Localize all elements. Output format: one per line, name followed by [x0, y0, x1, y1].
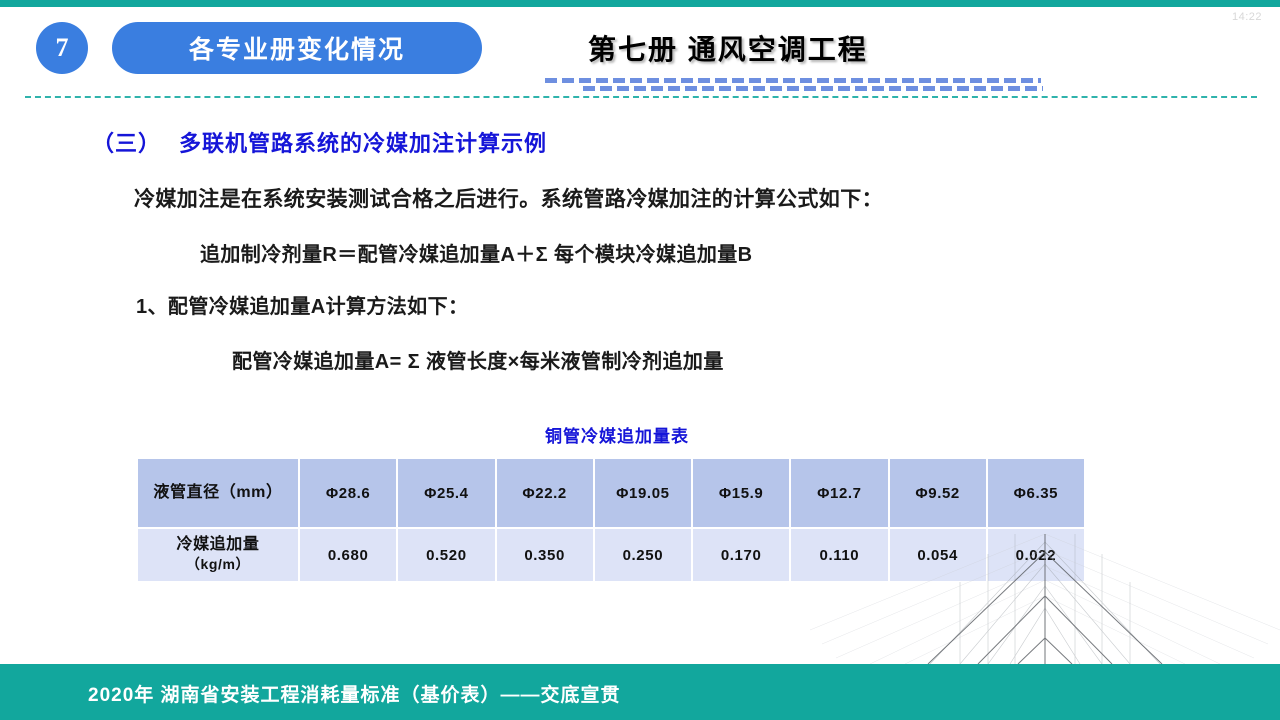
- top-accent-band: [0, 0, 1280, 7]
- table-cell-diameter: Φ6.35: [988, 459, 1084, 527]
- table-caption: 铜管冷媒追加量表: [545, 422, 689, 447]
- list-item-1: 1、配管冷媒追加量A计算方法如下：: [136, 290, 468, 319]
- title-dash-decoration-top: [545, 78, 1041, 83]
- section-number-badge: 7: [36, 22, 88, 74]
- table-cell-charge: 0.022: [988, 529, 1084, 581]
- slide-root: 14:22 7 各专业册变化情况 第七册 通风空调工程 （三）多联机管路系统的冷…: [0, 0, 1280, 720]
- table-cell-charge: 0.250: [595, 529, 691, 581]
- table-cell-charge: 0.170: [693, 529, 789, 581]
- row-header-charge-unit: （kg/m）: [186, 556, 250, 572]
- row-header-charge: 冷媒追加量 （kg/m）: [138, 529, 298, 581]
- table-row: 冷媒追加量 （kg/m） 0.680 0.520 0.350 0.250 0.1…: [138, 529, 1084, 581]
- section-label: （三）: [92, 131, 161, 156]
- section-title-pill: 各专业册变化情况: [112, 22, 482, 74]
- table-cell-charge: 0.350: [497, 529, 593, 581]
- paragraph-intro: 冷媒加注是在系统安装测试合格之后进行。系统管路冷媒加注的计算公式如下：: [134, 183, 883, 213]
- row-header-diameter: 液管直径（mm）: [138, 459, 298, 527]
- copper-pipe-charge-table: 液管直径（mm） Φ28.6 Φ25.4 Φ22.2 Φ19.05 Φ15.9 …: [136, 457, 1086, 583]
- formula-total-charge: 追加制冷剂量R＝配管冷媒追加量A＋Σ 每个模块冷媒追加量B: [200, 238, 753, 267]
- table-cell-diameter: Φ19.05: [595, 459, 691, 527]
- table-cell-charge: 0.680: [300, 529, 396, 581]
- page-title: （三）多联机管路系统的冷媒加注计算示例: [92, 126, 547, 158]
- clock-timestamp: 14:22: [1232, 11, 1262, 23]
- row-header-charge-text: 冷媒追加量: [176, 536, 259, 553]
- table-cell-diameter: Φ28.6: [300, 459, 396, 527]
- book-title: 第七册 通风空调工程: [588, 28, 868, 68]
- title-dash-decoration-bottom: [583, 86, 1043, 91]
- table-cell-diameter: Φ25.4: [398, 459, 494, 527]
- table-cell-charge: 0.054: [890, 529, 986, 581]
- table-cell-diameter: Φ9.52: [890, 459, 986, 527]
- table-cell-diameter: Φ12.7: [791, 459, 887, 527]
- table-cell-charge: 0.520: [398, 529, 494, 581]
- header-divider: [25, 96, 1257, 98]
- table-cell-charge: 0.110: [791, 529, 887, 581]
- table-cell-diameter: Φ15.9: [693, 459, 789, 527]
- formula-pipe-charge: 配管冷媒追加量A= Σ 液管长度×每米液管制冷剂追加量: [232, 345, 724, 374]
- table-row: 液管直径（mm） Φ28.6 Φ25.4 Φ22.2 Φ19.05 Φ15.9 …: [138, 459, 1084, 527]
- table-cell-diameter: Φ22.2: [497, 459, 593, 527]
- footer-title: 2020年 湖南省安装工程消耗量标准（基价表）——交底宣贯: [88, 680, 621, 707]
- section-heading-text: 多联机管路系统的冷媒加注计算示例: [179, 131, 547, 156]
